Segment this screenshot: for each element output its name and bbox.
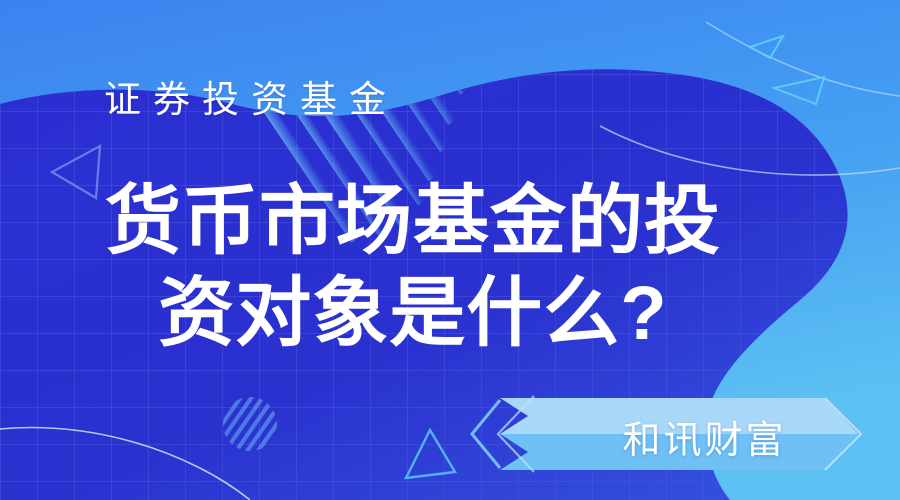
headline-line-1: 货币市场基金的投 [0, 176, 826, 268]
brand-banner: 和讯财富 [470, 392, 900, 478]
headline-line-2: 资对象是什么? [0, 268, 826, 360]
poster-headline: 货币市场基金的投 资对象是什么? [0, 176, 826, 360]
poster-canvas: 证券投资基金 货币市场基金的投 资对象是什么? 和讯财富 [0, 0, 900, 500]
poster-subtitle: 证券投资基金 [104, 76, 398, 124]
brand-banner-label: 和讯财富 [562, 400, 847, 472]
